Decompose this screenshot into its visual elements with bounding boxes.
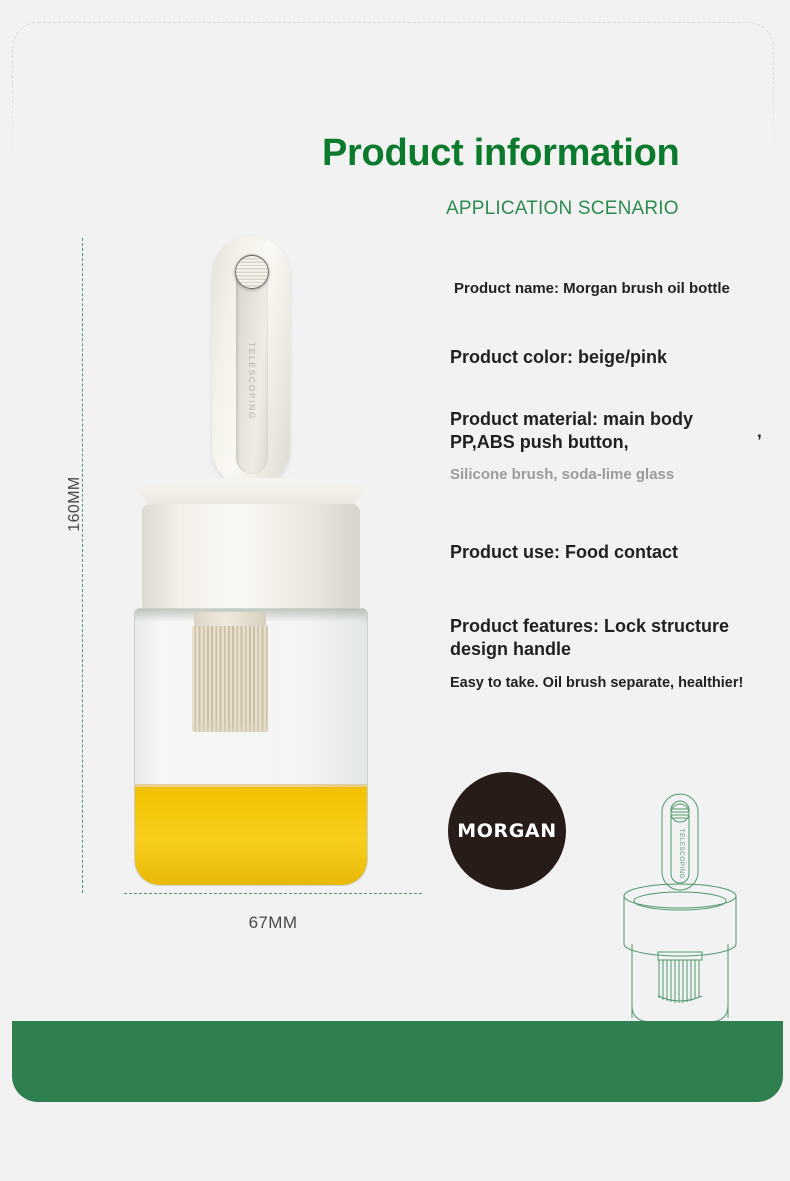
product-collar-body — [142, 504, 360, 610]
morgan-wordmark: MORGAN — [457, 820, 557, 842]
height-dimension-line — [82, 238, 83, 893]
height-dimension-label: 160MM — [66, 459, 84, 549]
product-lineart-illustration: TELESCOPING — [614, 792, 778, 1024]
push-button-icon — [235, 255, 269, 289]
footer-green-band — [12, 1021, 783, 1102]
oil-fill — [135, 787, 367, 885]
svg-text:TELESCOPING: TELESCOPING — [678, 829, 684, 879]
width-dimension-label: 67MM — [124, 913, 422, 933]
silicone-brush-bristles — [192, 626, 268, 732]
spec-product-material: Product material: main body PP,ABS push … — [450, 408, 762, 454]
spec-easy-to-take: Easy to take. Oil brush separate, health… — [450, 672, 770, 694]
spec-product-features: Product features: Lock structure design … — [450, 615, 750, 661]
spec-product-color: Product color: beige/pink — [450, 346, 750, 368]
spec-product-use: Product use: Food contact — [450, 541, 750, 563]
spec-material-stray-comma: , — [757, 422, 762, 442]
lineart-svg: TELESCOPING — [614, 792, 778, 1024]
spec-product-name: Product name: Morgan brush oil bottle — [454, 278, 754, 300]
width-dimension-line — [124, 893, 422, 894]
spec-product-material-secondary: Silicone brush, soda-lime glass — [450, 464, 760, 486]
product-info-page: Product information APPLICATION SCENARIO… — [0, 0, 790, 1181]
product-photo: TELESCOPING — [110, 236, 410, 888]
page-subtitle: APPLICATION SCENARIO — [446, 196, 776, 222]
morgan-logo-badge: MORGAN — [448, 772, 566, 890]
page-title: Product information — [322, 130, 752, 176]
